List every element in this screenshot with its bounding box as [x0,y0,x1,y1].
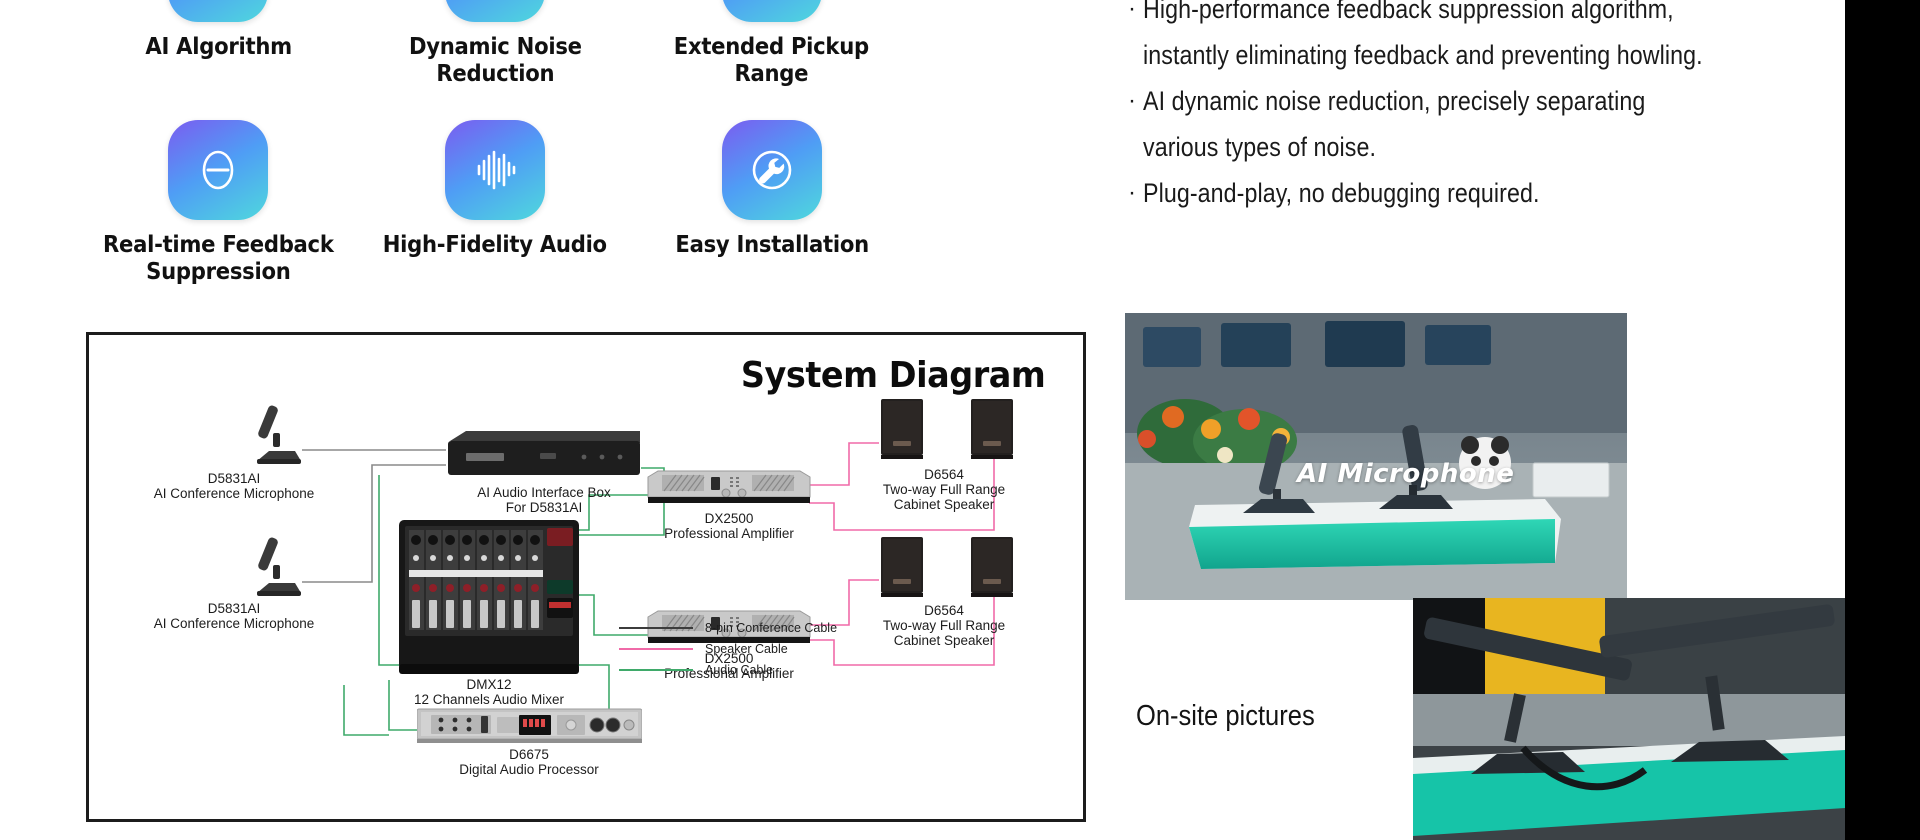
legend-swatch-audio-cable [619,669,693,671]
bullet-text: AI dynamic noise reduction, precisely se… [1143,78,1645,170]
device-label-mixer: DMX12 12 Channels Audio Mixer [379,677,599,707]
noise-wave-icon [445,0,545,22]
bullet-text: High-performance feedback suppression al… [1143,0,1703,78]
onsite-pictures-caption: On-site pictures [1136,700,1315,733]
bullet-item: · High-performance feedback suppression … [1128,0,1838,78]
bullet-marker-icon: · [1128,0,1136,32]
feature-item-high-fidelity-audio: High-Fidelity Audio [357,120,634,318]
feature-label: Real-time Feedback Suppression [91,232,346,286]
podium-overlay-text: AI Microphone [1297,459,1514,489]
legend-label: 8-pin Conference Cable [705,621,837,635]
photo-top-illustration [1125,313,1627,600]
bullet-text: Plug-and-play, no debugging required. [1143,170,1539,216]
device-label-amplifier-top: DX2500 Professional Amplifier [619,511,839,541]
device-conference-microphone-top [239,395,311,467]
feature-item-realtime-feedback-suppression: Real-time Feedback Suppression [80,120,357,318]
device-ai-audio-interface-box [444,427,644,488]
chip-icon [168,0,268,22]
device-speaker-bottom-right [969,535,1015,604]
feature-bullet-list: · High-performance feedback suppression … [1128,0,1838,216]
system-diagram-panel: System Diagram [86,332,1086,822]
audio-equalizer-icon [445,120,545,220]
cable-legend: 8-pin Conference Cable Speaker Cable Aud… [619,617,837,680]
feature-label: Dynamic Noise Reduction [368,34,623,88]
device-speaker-bottom-left [879,535,925,604]
feature-label: AI Algorithm [145,34,292,61]
legend-label: Speaker Cable [705,642,788,656]
feature-grid: AI Algorithm Dynamic Noise Reduction [80,0,910,312]
device-label-speaker-top: D6564 Two-way Full Range Cabinet Speaker [824,467,1064,512]
feedback-loop-icon [168,120,268,220]
feature-label: Extended Pickup Range [644,34,899,88]
feature-item-extended-pickup-range: Extended Pickup Range [633,0,910,120]
feature-item-easy-installation: Easy Installation [633,120,910,318]
photo-conference-table: AI Microphone [1125,313,1627,600]
device-conference-microphone-bottom [239,527,311,599]
device-amplifier-top [644,467,814,512]
photo-bottom-illustration [1413,598,1845,840]
poster-page: AI Algorithm Dynamic Noise Reduction [0,0,1920,840]
photo-microphone-closeup [1413,598,1845,840]
microphone-range-icon [722,0,822,22]
legend-item: Audio Cable [619,659,837,680]
device-digital-audio-processor [417,707,642,752]
feature-item-dynamic-noise-reduction: Dynamic Noise Reduction [357,0,634,120]
feature-item-ai-algorithm: AI Algorithm [80,0,357,120]
bullet-marker-icon: · [1128,78,1136,124]
device-audio-mixer [399,518,579,683]
device-label-processor: D6675 Digital Audio Processor [389,747,669,777]
device-label-speaker-bottom: D6564 Two-way Full Range Cabinet Speaker [824,603,1064,648]
feature-label: High-Fidelity Audio [383,232,607,259]
wrench-icon [722,120,822,220]
device-label-microphone-top: D5831AI AI Conference Microphone [119,471,349,501]
device-speaker-top-right [969,397,1015,466]
bullet-item: · Plug-and-play, no debugging required. [1128,170,1838,216]
content-canvas: AI Algorithm Dynamic Noise Reduction [0,0,1845,840]
bullet-item: · AI dynamic noise reduction, precisely … [1128,78,1838,170]
legend-label: Audio Cable [705,663,773,677]
legend-swatch-speaker-cable [619,648,693,650]
device-label-microphone-bottom: D5831AI AI Conference Microphone [119,601,349,631]
feature-label: Easy Installation [675,232,868,259]
device-speaker-top-left [879,397,925,466]
bullet-marker-icon: · [1128,170,1136,216]
legend-item: Speaker Cable [619,638,837,659]
legend-swatch-conference-cable [619,627,693,629]
legend-item: 8-pin Conference Cable [619,617,837,638]
